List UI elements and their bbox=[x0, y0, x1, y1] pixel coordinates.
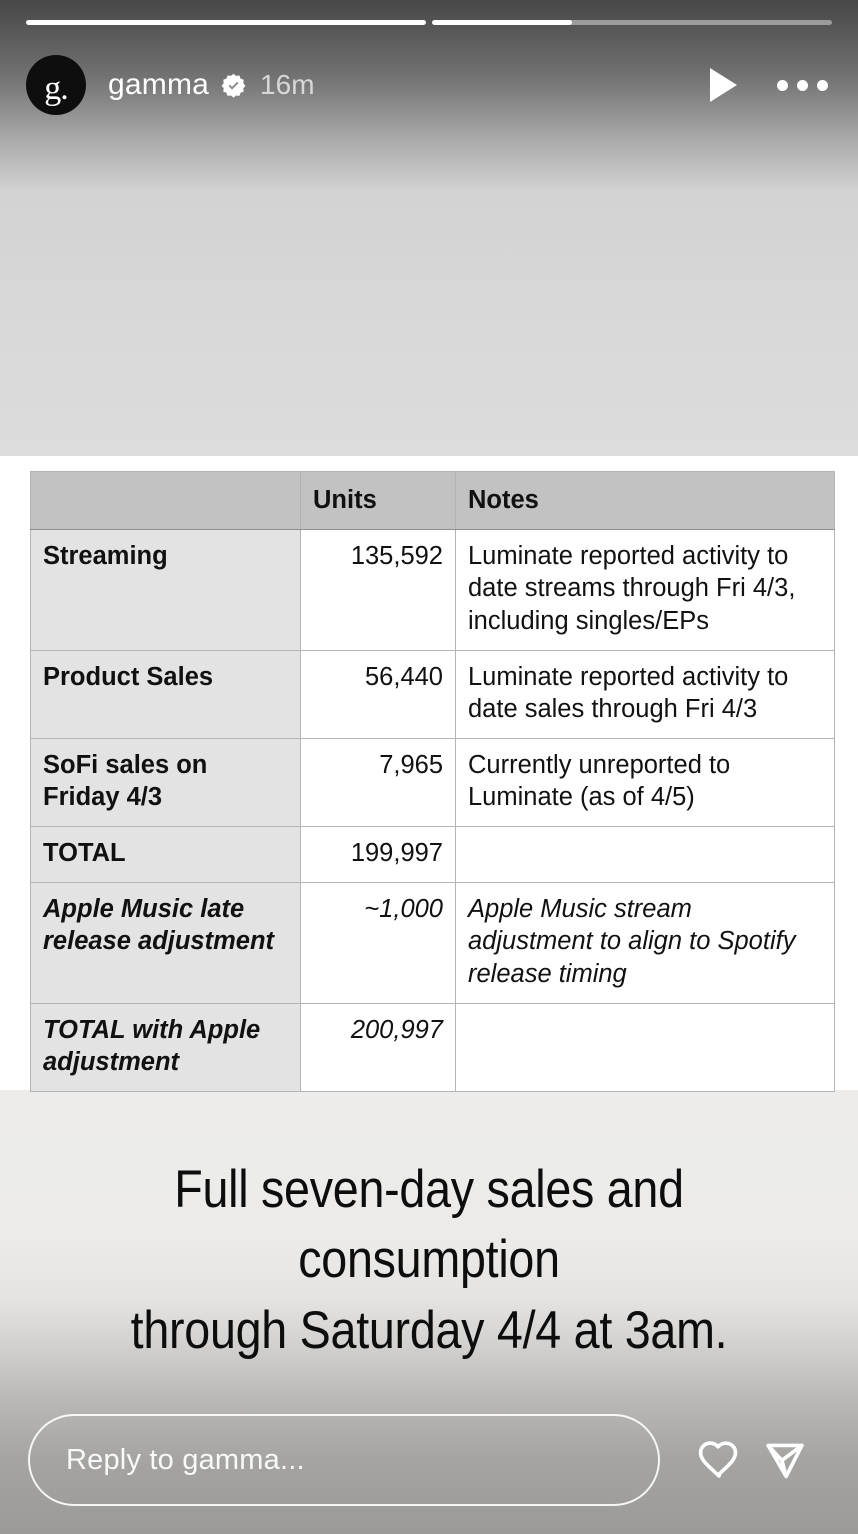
avatar-glyph: g. bbox=[44, 72, 68, 106]
row-label: Product Sales bbox=[31, 650, 301, 738]
story-progress-bar[interactable] bbox=[26, 20, 832, 25]
table-row: SoFi sales on Friday 4/37,965Currently u… bbox=[31, 738, 835, 826]
table-row: Apple Music late release adjustment~1,00… bbox=[31, 882, 835, 1003]
caption-line-2: through Saturday 4/4 at 3am. bbox=[95, 1296, 762, 1366]
more-dot-2 bbox=[797, 80, 808, 91]
row-notes: Luminate reported activity to date strea… bbox=[456, 529, 835, 650]
column-header-notes: Notes bbox=[456, 472, 835, 530]
row-label: TOTAL with Apple adjustment bbox=[31, 1003, 301, 1091]
heart-icon[interactable] bbox=[696, 1437, 742, 1483]
story-viewer: g. gamma 16m Units Notes bbox=[0, 0, 858, 1534]
more-dot-3 bbox=[817, 80, 828, 91]
table-row: TOTAL199,997 bbox=[31, 827, 835, 883]
table-row: Product Sales56,440Luminate reported act… bbox=[31, 650, 835, 738]
more-options-icon[interactable] bbox=[777, 80, 828, 91]
reply-placeholder: Reply to gamma... bbox=[66, 1444, 305, 1477]
row-notes bbox=[456, 1003, 835, 1091]
units-table: Units Notes Streaming135,592Luminate rep… bbox=[30, 471, 835, 1092]
row-label: SoFi sales on Friday 4/3 bbox=[31, 738, 301, 826]
play-icon[interactable] bbox=[710, 68, 737, 102]
share-icon[interactable] bbox=[762, 1437, 808, 1483]
column-header-units: Units bbox=[301, 472, 456, 530]
story-header: g. gamma 16m bbox=[26, 55, 832, 115]
timestamp-label: 16m bbox=[260, 69, 314, 101]
progress-segment-2-fill bbox=[432, 20, 572, 25]
progress-segment-1[interactable] bbox=[26, 20, 426, 25]
row-units: 135,592 bbox=[301, 529, 456, 650]
row-notes: Luminate reported activity to date sales… bbox=[456, 650, 835, 738]
row-units: 56,440 bbox=[301, 650, 456, 738]
row-units: 199,997 bbox=[301, 827, 456, 883]
more-dot-1 bbox=[777, 80, 788, 91]
table-header-row: Units Notes bbox=[31, 472, 835, 530]
row-units: ~1,000 bbox=[301, 882, 456, 1003]
reply-actions bbox=[660, 1437, 830, 1483]
username-label[interactable]: gamma bbox=[108, 68, 209, 102]
row-notes: Apple Music stream adjustment to align t… bbox=[456, 882, 835, 1003]
avatar[interactable]: g. bbox=[26, 55, 86, 115]
row-units: 7,965 bbox=[301, 738, 456, 826]
row-notes: Currently unreported to Luminate (as of … bbox=[456, 738, 835, 826]
caption-line-1: Full seven-day sales and consumption bbox=[95, 1155, 762, 1296]
table-row: Streaming135,592Luminate reported activi… bbox=[31, 529, 835, 650]
story-caption: Full seven-day sales and consumption thr… bbox=[95, 1155, 762, 1366]
progress-segment-1-fill bbox=[26, 20, 426, 25]
column-header-blank bbox=[31, 472, 301, 530]
row-label: Streaming bbox=[31, 529, 301, 650]
row-label: Apple Music late release adjustment bbox=[31, 882, 301, 1003]
reply-input[interactable]: Reply to gamma... bbox=[28, 1414, 660, 1506]
units-table-container: Units Notes Streaming135,592Luminate rep… bbox=[30, 471, 834, 1092]
progress-segment-2[interactable] bbox=[432, 20, 832, 25]
verified-badge-icon bbox=[221, 73, 246, 98]
reply-bar: Reply to gamma... bbox=[28, 1414, 830, 1506]
row-label: TOTAL bbox=[31, 827, 301, 883]
row-units: 200,997 bbox=[301, 1003, 456, 1091]
row-notes bbox=[456, 827, 835, 883]
table-row: TOTAL with Apple adjustment200,997 bbox=[31, 1003, 835, 1091]
